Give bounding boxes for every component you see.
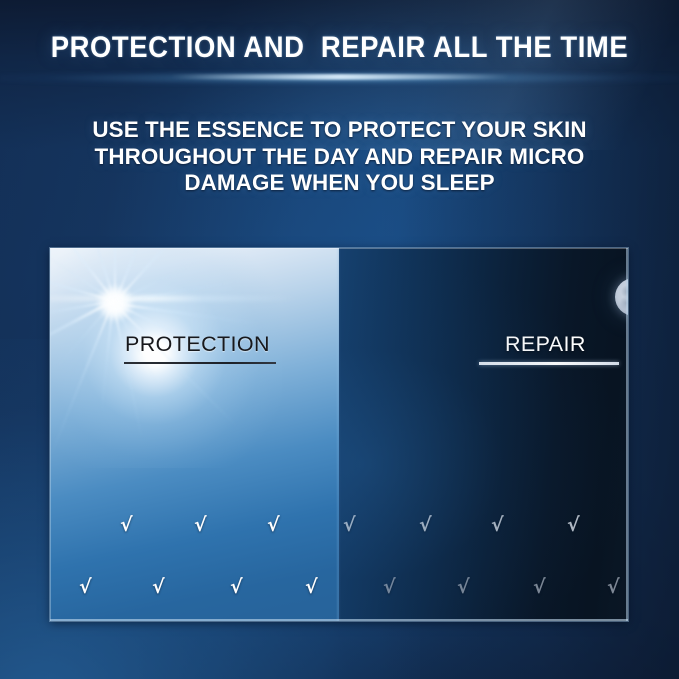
sun-ray <box>113 302 116 305</box>
checkmark: √ <box>419 516 432 535</box>
checkmark: √ <box>457 578 470 597</box>
protection-label-underline <box>124 362 276 364</box>
checkmark: √ <box>230 578 243 597</box>
subtitle-block: USE THE ESSENCE TO PROTECT YOUR SKIN THR… <box>0 117 679 197</box>
checkmark: √ <box>267 516 280 535</box>
repair-label: REPAIR <box>505 332 586 357</box>
checkmark: √ <box>305 578 318 597</box>
banner-root: PROTECTION AND REPAIR ALL THE TIME USE T… <box>0 0 679 679</box>
sun-ray <box>112 302 114 304</box>
checkmark: √ <box>79 578 92 597</box>
sun-ray <box>114 300 116 302</box>
sun-ray <box>111 301 114 304</box>
subtitle-line-3: DAMAGE WHEN YOU SLEEP <box>0 170 679 197</box>
page-title: PROTECTION AND REPAIR ALL THE TIME <box>24 33 655 64</box>
checkmark: √ <box>120 516 133 535</box>
sun-flare-icon <box>50 248 282 468</box>
sun-ray <box>112 302 115 305</box>
subtitle-line-2: THROUGHOUT THE DAY AND REPAIR MICRO <box>0 144 679 171</box>
checkmark: √ <box>383 578 396 597</box>
sun-ray <box>113 299 116 302</box>
checkmark: √ <box>491 516 504 535</box>
sun-ray <box>111 300 114 303</box>
sun-core-icon <box>98 286 132 320</box>
sun-horizontal-streak <box>50 296 300 301</box>
panel-half-day: PROTECTION √√√√√√√ <box>50 248 339 621</box>
sun-ray <box>112 300 114 302</box>
checkmark: √ <box>194 516 207 535</box>
checkmark: √ <box>533 578 546 597</box>
checkmark: √ <box>152 578 165 597</box>
sun-ray <box>112 299 115 302</box>
panel-half-night: REPAIR √√√√√√√√ <box>339 248 628 621</box>
sun-ray <box>114 302 116 304</box>
sun-ray <box>113 299 116 302</box>
checkmark: √ <box>607 578 620 597</box>
moon-icon <box>615 278 628 316</box>
sun-ray <box>114 300 117 303</box>
checkmark: √ <box>567 516 580 535</box>
checkmark: √ <box>343 516 356 535</box>
sun-ray <box>112 302 114 304</box>
sun-ray <box>114 301 117 304</box>
comparison-panel: PROTECTION √√√√√√√ REPAIR √√√√√√√√ <box>50 248 628 621</box>
sun-ray <box>114 302 116 304</box>
repair-label-underline <box>479 362 619 365</box>
sun-ray <box>114 301 117 304</box>
subtitle-line-1: USE THE ESSENCE TO PROTECT YOUR SKIN <box>0 117 679 144</box>
protection-label: PROTECTION <box>125 332 270 357</box>
sun-ray <box>113 302 116 305</box>
sun-ray <box>111 301 114 304</box>
sun-ray <box>112 300 114 302</box>
